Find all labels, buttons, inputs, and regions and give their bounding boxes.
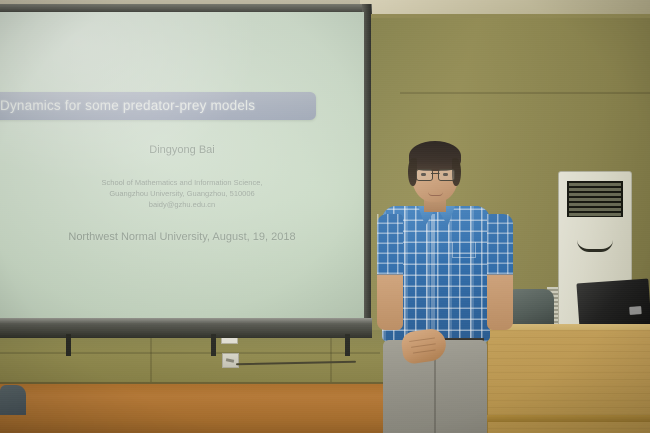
wall-outlet — [222, 353, 239, 368]
shirt-placket — [431, 214, 435, 342]
slide-title: Dynamics for some predator-prey models — [0, 98, 318, 113]
slide-author: Dingyong Bai — [0, 144, 364, 156]
office-chair — [506, 289, 554, 329]
outlet-slot — [226, 358, 234, 363]
trouser-seam — [434, 352, 436, 433]
screen-vignette — [0, 12, 364, 320]
screen-frame-bottom — [0, 318, 372, 338]
speaker-mouth — [428, 192, 443, 196]
screen-strap — [345, 334, 350, 356]
speaker-left-arm — [377, 214, 403, 330]
screen-strap — [211, 334, 216, 356]
affiliation-line-2: Guangzhou University, Guangzhou, 510006 — [0, 188, 364, 199]
glasses-icon — [416, 169, 455, 179]
ac-grille — [567, 181, 623, 217]
speaker-right-arm — [487, 214, 513, 330]
wall-seam — [330, 336, 332, 384]
ac-handle — [577, 240, 613, 252]
shirt-chest-pocket — [452, 242, 476, 258]
wall-seam — [150, 336, 152, 386]
podium-lower-rail — [487, 415, 650, 422]
monitor-logo — [629, 306, 642, 315]
affiliation-line-1: School of Mathematics and Information Sc… — [0, 177, 364, 188]
wall-seam — [0, 352, 380, 354]
side-chair — [0, 385, 26, 415]
screen-strap — [66, 334, 71, 356]
affiliation-email: baidy@gzhu.edu.cn — [0, 199, 364, 210]
projection-screen: Dynamics for some predator-prey models D… — [0, 12, 364, 320]
slide-venue: Northwest Normal University, August, 19,… — [0, 231, 364, 243]
lecture-hall-photo: EXIT Dynamics for some predator-prey mod… — [0, 0, 650, 433]
slide-affiliation: School of Mathematics and Information Sc… — [0, 177, 364, 210]
wall-seam — [400, 92, 650, 94]
